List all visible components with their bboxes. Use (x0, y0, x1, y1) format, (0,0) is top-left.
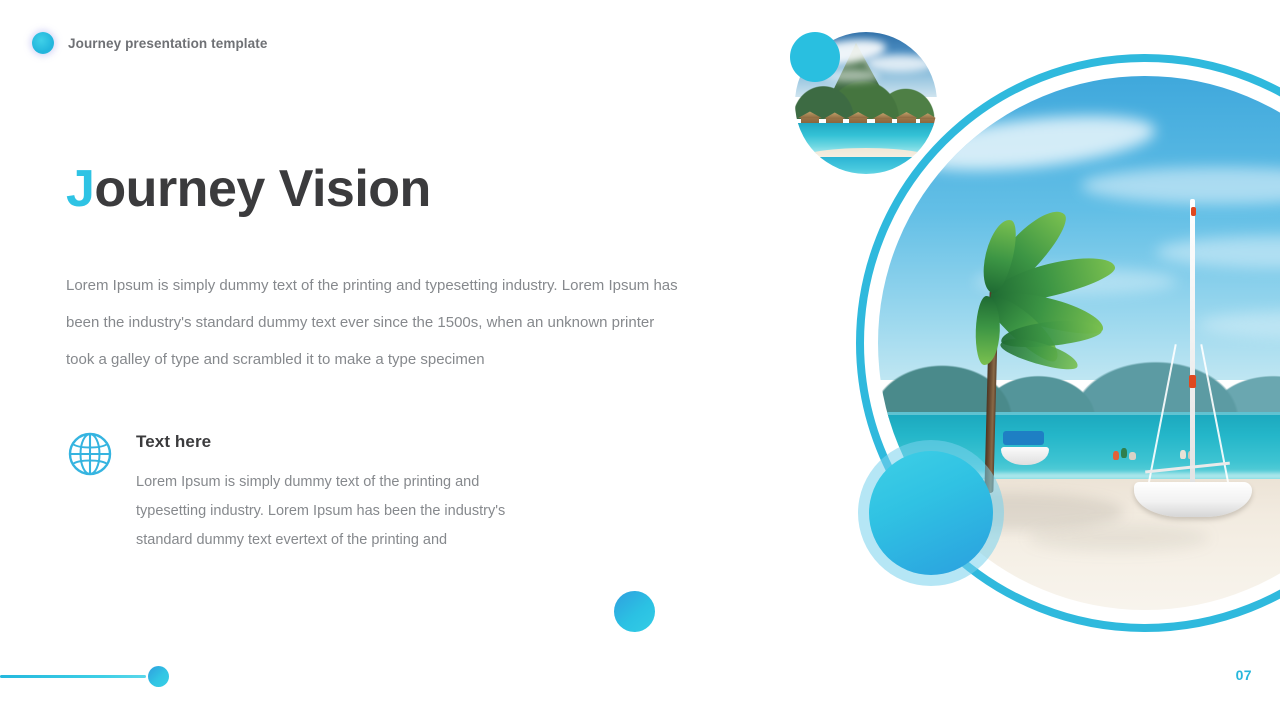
cloud (866, 55, 934, 72)
beach-person (1113, 451, 1119, 460)
accent-circle (869, 451, 993, 575)
mini-pool (795, 157, 937, 174)
globe-icon (66, 430, 114, 478)
slide-header: Journey presentation template (32, 32, 267, 54)
page-title: Journey Vision (66, 160, 696, 218)
bottom-rule-dot-icon (148, 666, 169, 687)
bullet-dot-icon (32, 32, 54, 54)
page-title-rest: ourney Vision (94, 160, 430, 218)
left-content-column: Journey Vision Lorem Ipsum is simply dum… (66, 160, 696, 378)
mini-accent-dot-icon (790, 32, 840, 82)
mast-marking (1191, 207, 1196, 216)
feature-title: Text here (136, 432, 541, 452)
feature-block: Text here Lorem Ipsum is simply dummy te… (66, 428, 586, 555)
bottom-rule-line (0, 675, 146, 678)
floating-dot-icon (614, 591, 655, 632)
lead-paragraph: Lorem Ipsum is simply dummy text of the … (66, 268, 686, 378)
sand-shadow (1028, 525, 1210, 552)
page-number: 07 (1236, 667, 1252, 683)
mast-marking (1189, 375, 1196, 388)
beach-person (1180, 450, 1186, 459)
presentation-slide: Journey presentation template Journey Vi… (0, 0, 1280, 720)
feature-body: Text here Lorem Ipsum is simply dummy te… (136, 428, 541, 555)
page-title-accent-letter: J (66, 160, 94, 218)
feature-text: Lorem Ipsum is simply dummy text of the … (136, 468, 541, 555)
distant-mountains (878, 359, 1280, 418)
header-title: Journey presentation template (68, 36, 267, 51)
beach-person (1129, 452, 1136, 460)
beach-person (1121, 448, 1127, 458)
horizon-line (878, 412, 1280, 415)
sailboat-mast (1190, 199, 1195, 493)
boat-canopy (1003, 431, 1043, 445)
